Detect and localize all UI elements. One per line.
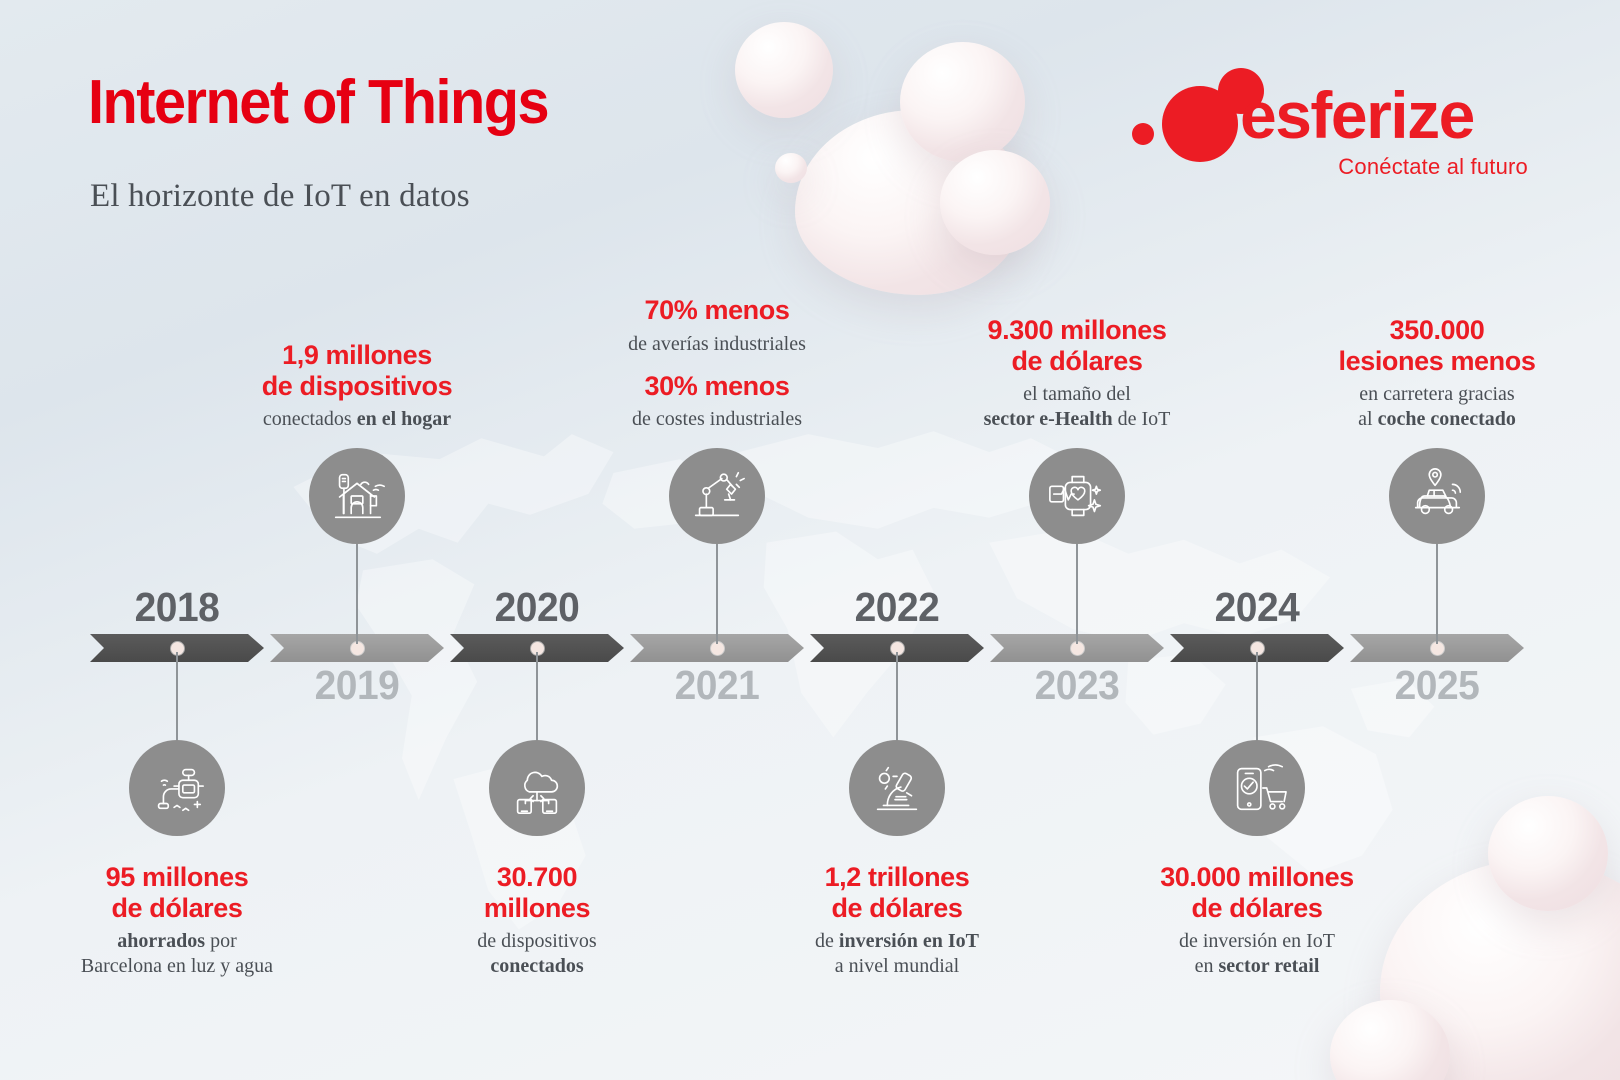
stat-description: de inversión en IoTa nivel mundial (747, 929, 1047, 979)
year-label-2025: 2025 (1388, 662, 1487, 709)
stat-block-2018: 95 millonesde dólaresahorrados porBarcel… (27, 862, 327, 979)
stat-headline: 350.000lesiones menos (1287, 315, 1587, 376)
stat-description: de costes industriales (567, 407, 867, 432)
stat-block-2023: 9.300 millonesde dólaresel tamaño delsec… (927, 315, 1227, 432)
year-label-2020: 2020 (488, 584, 587, 631)
year-label-2018: 2018 (128, 584, 227, 631)
year-label-2019: 2019 (308, 662, 407, 709)
stat-headline: 95 millonesde dólares (27, 862, 327, 923)
smart-home-icon[interactable] (309, 448, 405, 544)
stat-block-2019: 1,9 millonesde dispositivosconectados en… (207, 340, 507, 432)
connector-line-2025 (1436, 544, 1438, 644)
stat-description: el tamaño delsector e-Health de IoT (927, 382, 1227, 432)
stat-headline: 30.000 millonesde dólares (1107, 862, 1407, 923)
connector-line-2023 (1076, 544, 1078, 644)
connector-line-2018 (176, 652, 178, 752)
smartwatch-health-icon[interactable] (1029, 448, 1125, 544)
stat-block-2021: 70% menosde averías industriales30% meno… (567, 295, 867, 432)
stat-headline: 30% menos (567, 371, 867, 402)
stat-block-2022: 1,2 trillonesde dólaresde inversión en I… (747, 862, 1047, 979)
stat-description: en carretera graciasal coche conectado (1287, 382, 1587, 432)
stat-description: conectados en el hogar (207, 407, 507, 432)
stat-description: de dispositivosconectados (387, 929, 687, 979)
stat-headline: 70% menos (567, 295, 867, 326)
stat-description: de averías industriales (567, 332, 867, 357)
stat-headline: 1,9 millonesde dispositivos (207, 340, 507, 401)
stat-block-2025: 350.000lesiones menosen carretera gracia… (1287, 315, 1587, 432)
year-label-2022: 2022 (848, 584, 947, 631)
year-label-2023: 2023 (1028, 662, 1127, 709)
microscope-icon[interactable] (849, 740, 945, 836)
timeline-bar (90, 634, 1530, 662)
connected-car-icon[interactable] (1389, 448, 1485, 544)
stat-headline: 1,2 trillonesde dólares (747, 862, 1047, 923)
industrial-robot-arm-icon[interactable] (669, 448, 765, 544)
stat-block-2024: 30.000 millonesde dólaresde inversión en… (1107, 862, 1407, 979)
year-label-2024: 2024 (1208, 584, 1307, 631)
connector-line-2021 (716, 544, 718, 644)
stat-description: ahorrados porBarcelona en luz y agua (27, 929, 327, 979)
year-label-2021: 2021 (668, 662, 767, 709)
connector-line-2020 (536, 652, 538, 752)
timeline: 20182019202020212022202320242025 95 mill… (0, 0, 1620, 1080)
stat-description: de inversión en IoTen sector retail (1107, 929, 1407, 979)
connector-line-2022 (896, 652, 898, 752)
cloud-connected-devices-icon[interactable] (489, 740, 585, 836)
stat-headline: 30.700millones (387, 862, 687, 923)
smart-water-tap-icon[interactable] (129, 740, 225, 836)
mobile-shopping-cart-icon[interactable] (1209, 740, 1305, 836)
stat-block-2020: 30.700millonesde dispositivosconectados (387, 862, 687, 979)
connector-line-2019 (356, 544, 358, 644)
stat-headline: 9.300 millonesde dólares (927, 315, 1227, 376)
stat-spacer (567, 357, 867, 371)
connector-line-2024 (1256, 652, 1258, 752)
